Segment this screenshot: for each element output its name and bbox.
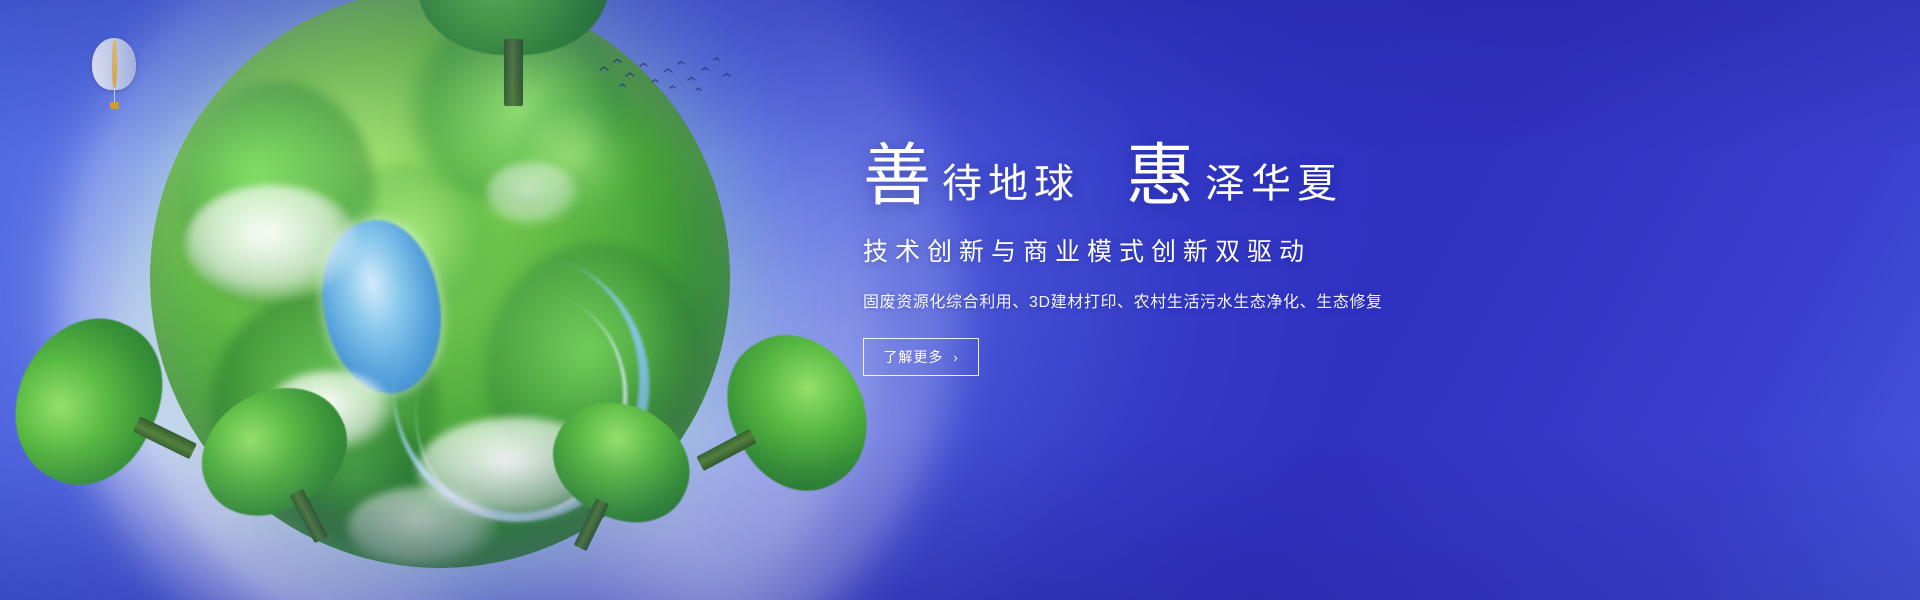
subtitle: 技术创新与商业模式创新双驱动 xyxy=(863,232,1623,268)
headline-word-2-primary: 惠 xyxy=(1126,142,1195,210)
description: 固废资源化综合利用、3D建材打印、农村生活污水生态净化、生态修复 xyxy=(863,288,1623,312)
hero-content: 善 待地球 惠 泽华夏 技术创新与商业模式创新双驱动 固废资源化综合利用、3D建… xyxy=(863,124,1623,376)
headline-word-1-secondary: 待地球 xyxy=(932,164,1080,210)
learn-more-button[interactable]: 了解更多 › xyxy=(863,338,979,376)
headline-word-2-secondary: 泽华夏 xyxy=(1195,164,1343,210)
learn-more-label: 了解更多 xyxy=(883,347,943,367)
headline-word-1-primary: 善 xyxy=(863,142,932,210)
hero-banner: 善 待地球 惠 泽华夏 技术创新与商业模式创新双驱动 固废资源化综合利用、3D建… xyxy=(0,0,1920,600)
chevron-right-icon: › xyxy=(953,351,958,364)
headline: 善 待地球 惠 泽华夏 xyxy=(863,124,1623,210)
